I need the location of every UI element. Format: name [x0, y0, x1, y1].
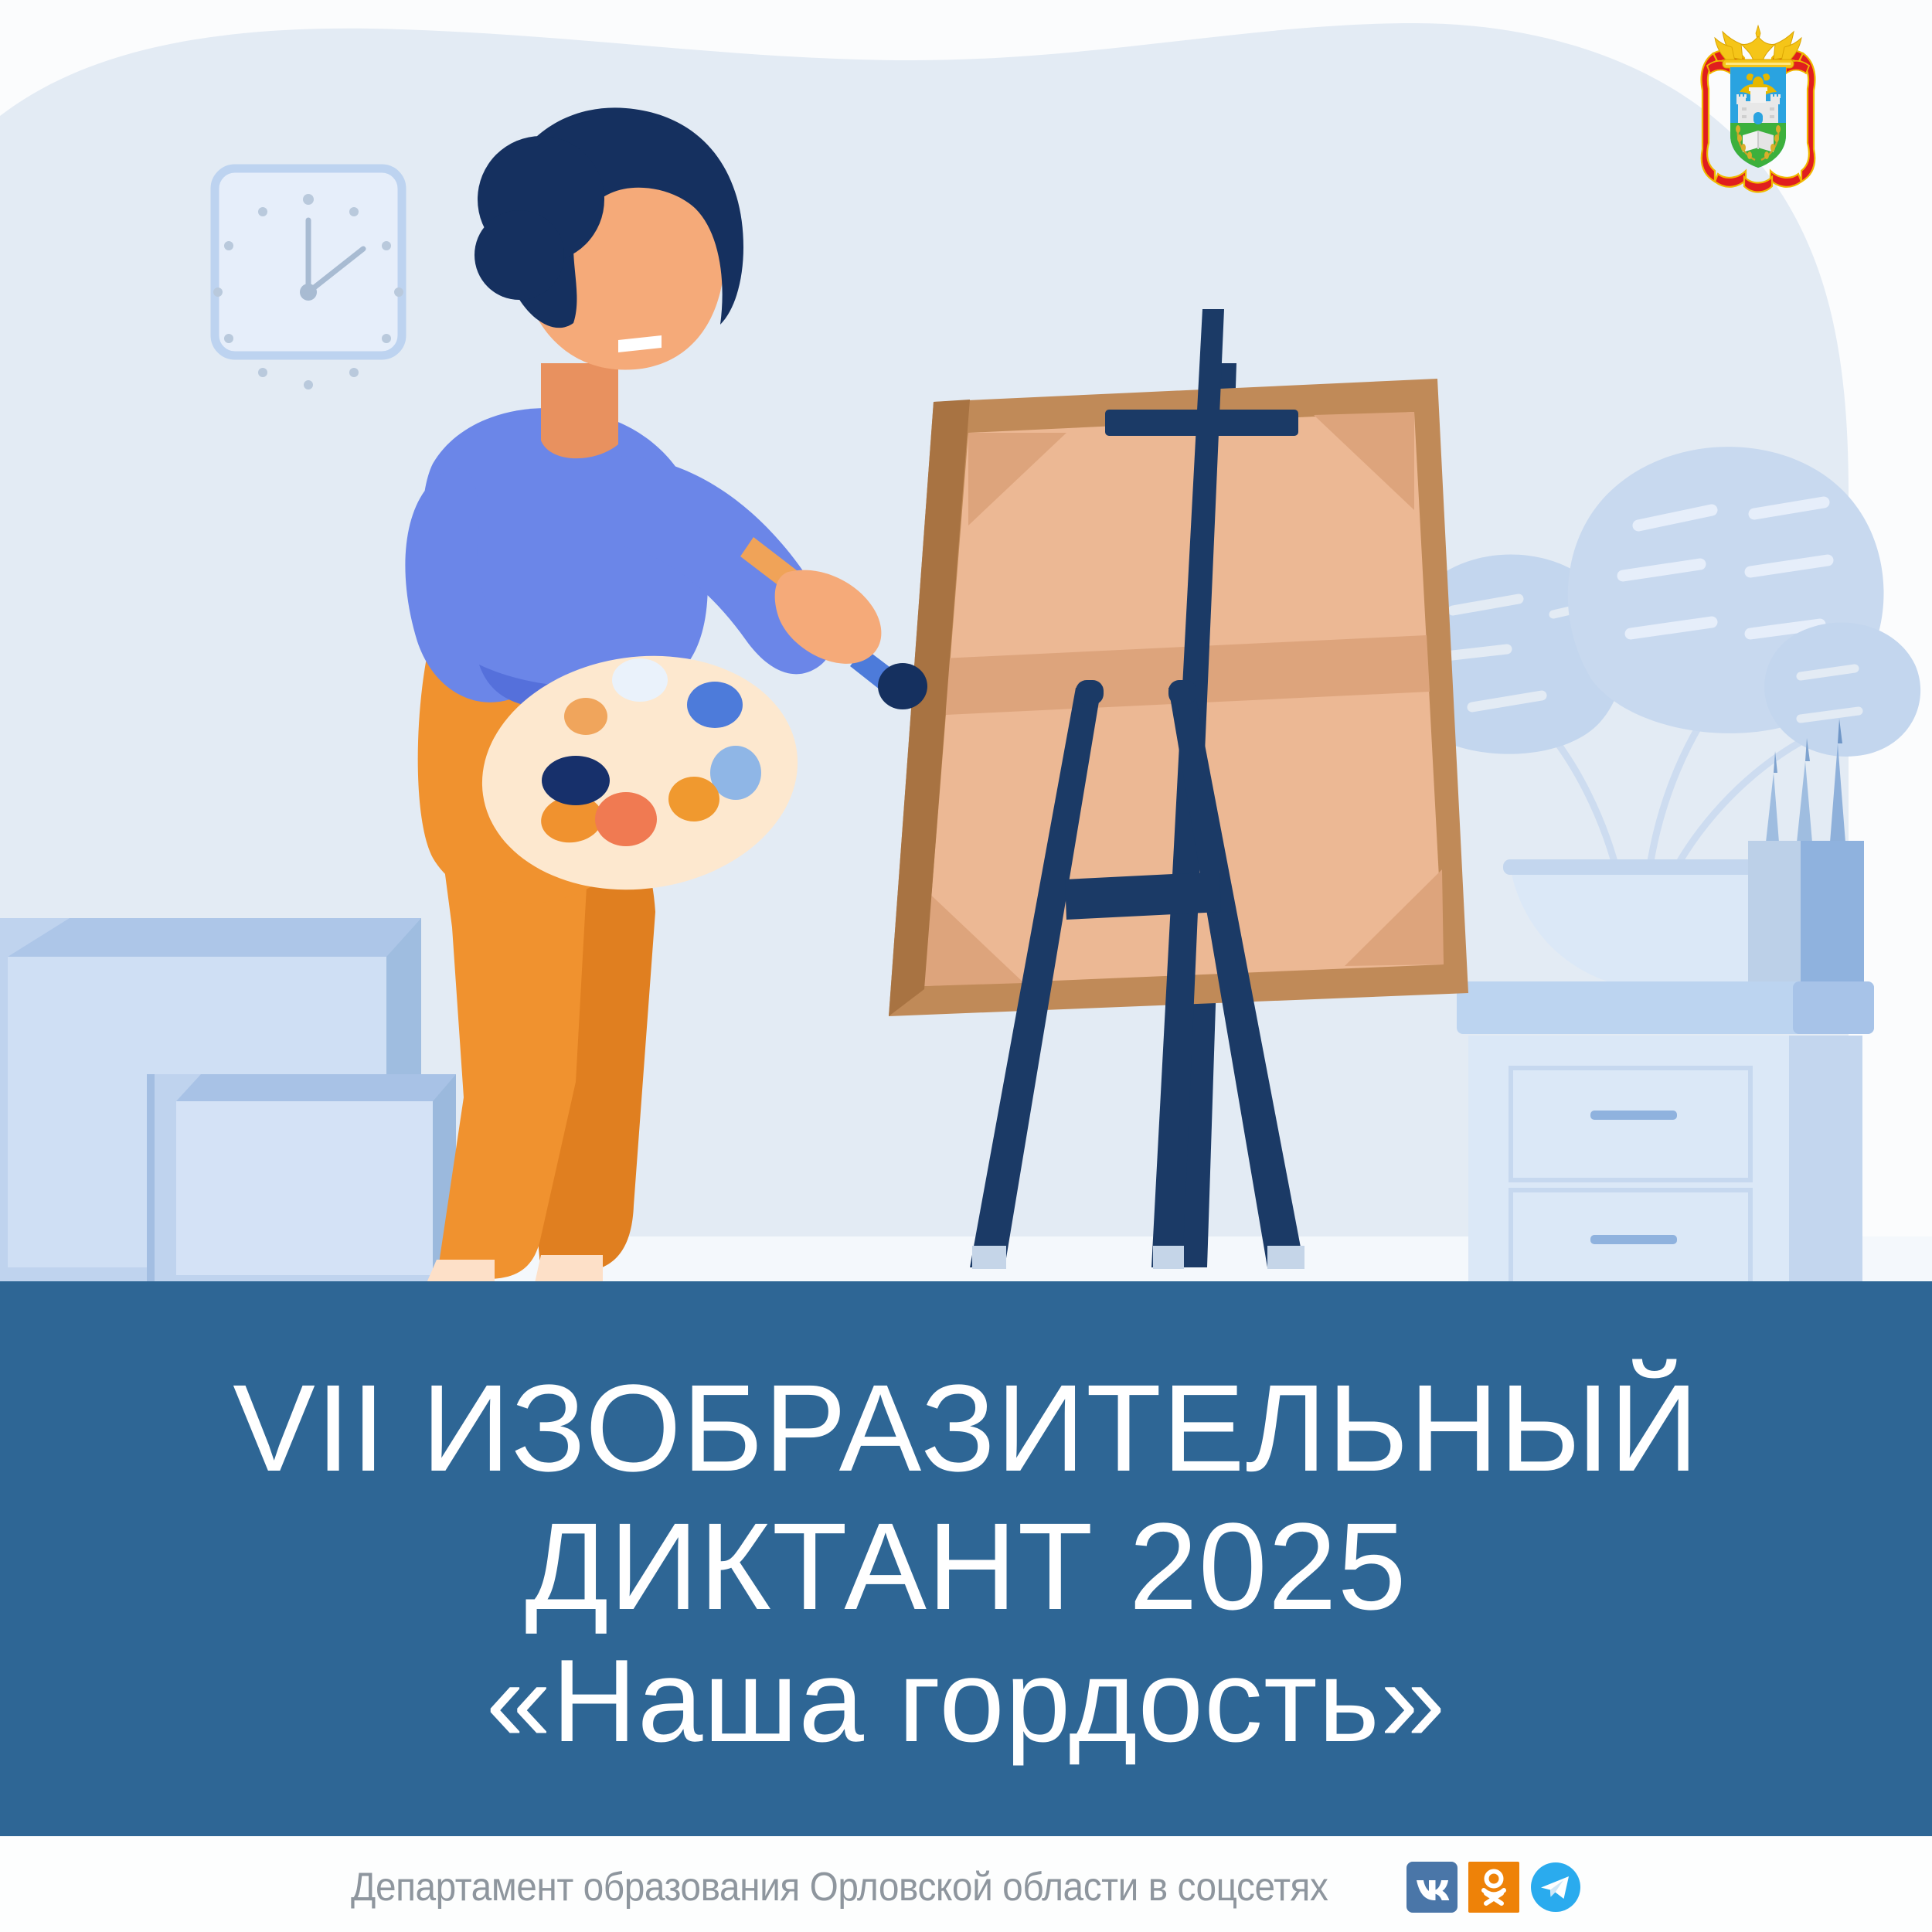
drawer-handle-2: [1590, 1235, 1677, 1244]
social-links: [1406, 1862, 1581, 1913]
brush-tip: [878, 663, 927, 709]
vk-icon[interactable]: [1406, 1862, 1458, 1913]
footer-bar: Департамент образования Орловской област…: [0, 1836, 1932, 1932]
poster-root: VII ИЗОБРАЗИТЕЛЬНЫЙ ДИКТАНТ 2025 «Наша г…: [0, 0, 1932, 1932]
foot-front: [427, 1260, 495, 1283]
scene-artwork: [0, 0, 1932, 1298]
shield: [1730, 67, 1786, 168]
crown: [1715, 26, 1801, 68]
foot-back: [535, 1255, 603, 1283]
cup-body-shade: [1801, 841, 1864, 984]
cabinet-body: [1468, 1036, 1824, 1298]
odnoklassniki-icon[interactable]: [1468, 1862, 1519, 1913]
drawer-handle-1: [1590, 1111, 1677, 1120]
coat-of-arms-oryol-oblast: [1696, 19, 1820, 209]
footer-text: Департамент образования Орловской област…: [351, 1864, 1328, 1910]
footer-content: Департамент образования Орловской област…: [351, 1862, 1581, 1913]
cabinet: [1457, 981, 1874, 1298]
neck: [541, 363, 618, 458]
banner-line-3: «Наша гордость»: [486, 1635, 1447, 1767]
banner-line-1: VII ИЗОБРАЗИТЕЛЬНЫЙ: [233, 1359, 1699, 1497]
telegram-icon[interactable]: [1530, 1862, 1581, 1913]
vk-link[interactable]: [1406, 1862, 1458, 1913]
banner-line-2: ДИКТАНТ 2025: [525, 1497, 1406, 1635]
coat-of-arms-artwork: [1696, 19, 1820, 209]
stacked-canvases: [0, 918, 456, 1283]
cabinet-side: [1789, 1036, 1862, 1298]
illustration-scene: [0, 0, 1932, 1298]
odnoklassniki-link[interactable]: [1468, 1862, 1519, 1913]
title-banner: VII ИЗОБРАЗИТЕЛЬНЫЙ ДИКТАНТ 2025 «Наша г…: [0, 1281, 1932, 1836]
wall-clock: [213, 168, 403, 389]
telegram-link[interactable]: [1530, 1862, 1581, 1913]
